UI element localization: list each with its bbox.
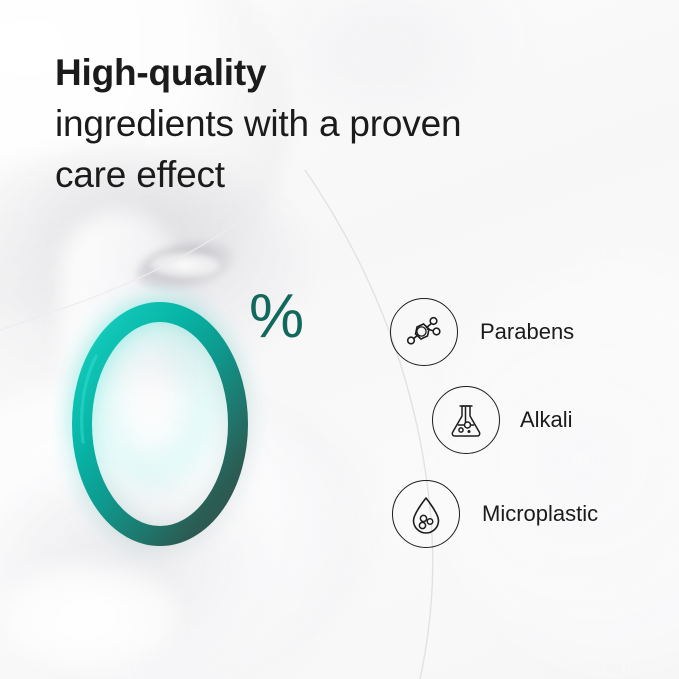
promo-graphic: High-quality ingredients with a proven c… [0,0,679,679]
flask-icon [432,386,500,454]
list-item: Parabens [390,298,574,366]
molecule-icon [390,298,458,366]
headline: High-quality ingredients with a proven c… [55,47,615,200]
zero-ring-icon [52,282,352,572]
list-item-label: Alkali [520,407,573,433]
headline-line-3: care effect [55,149,615,200]
list-item-label: Microplastic [482,501,598,527]
water-droplet-icon [392,480,460,548]
list-item: Microplastic [392,480,598,548]
list-item: Alkali [432,386,573,454]
headline-line-1: High-quality [55,47,615,98]
headline-line-2: ingredients with a proven [55,98,615,149]
zero-percent-claim: % [52,282,352,572]
percent-symbol: % [249,286,303,348]
free-from-list: Parabens Alkal [380,290,660,560]
list-item-label: Parabens [480,319,574,345]
